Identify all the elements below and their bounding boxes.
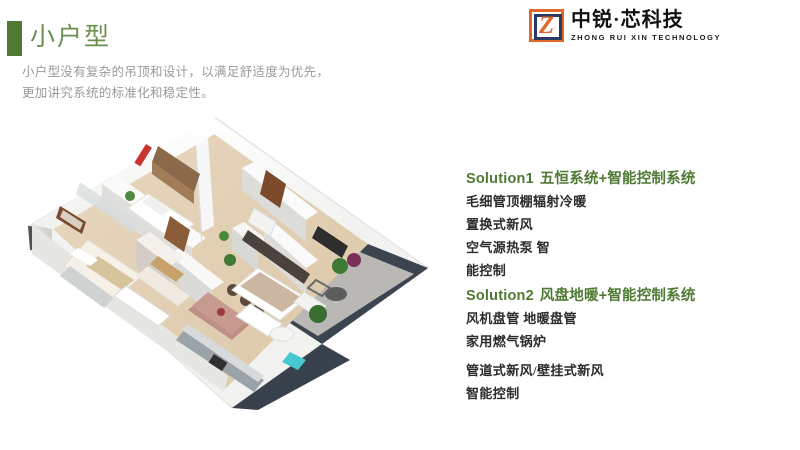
subtitle-line-2: 更加讲究系统的标准化和稳定性。 <box>22 83 442 104</box>
floorplan-plant-2 <box>219 231 229 241</box>
solution-1-item-4: 能控制 <box>466 259 786 282</box>
solution-2-heading: Solution2风盘地暖+智能控制系统 <box>466 285 786 307</box>
floorplan-dining-centerpiece <box>217 308 225 316</box>
solution-1-title: 五恒系统+智能控制系统 <box>540 171 696 187</box>
solution-2-title: 风盘地暖+智能控制系统 <box>540 288 696 304</box>
logo-z-icon: Z <box>529 9 564 42</box>
solution-1-label: Solution1 <box>466 171 534 187</box>
solution-1-heading: Solution1五恒系统+智能控制系统 <box>466 168 786 190</box>
company-logo: Z 中锐·芯科技 ZHONG RUI XIN TECHNOLOGY <box>529 9 721 43</box>
floorplan-plant-3 <box>224 254 236 266</box>
page-title: 小户型 <box>30 20 111 55</box>
logo-name-en: ZHONG RUI XIN TECHNOLOGY <box>571 32 721 43</box>
solution-block-1: Solution1五恒系统+智能控制系统 毛细管顶棚辐射冷暖 置换式新风 空气源… <box>466 168 786 282</box>
solution-2-item-1: 风机盘管 地暖盘管 <box>466 307 786 330</box>
logo-name-cn: 中锐·芯科技 <box>571 10 721 31</box>
logo-wordmark: 中锐·芯科技 ZHONG RUI XIN TECHNOLOGY <box>571 9 721 43</box>
solution-block-2: Solution2风盘地暖+智能控制系统 风机盘管 地暖盘管 家用燃气锅炉 管道… <box>466 285 786 405</box>
floorplan-plant-balcony-2 <box>347 253 361 267</box>
solution-2-item-3: 管道式新风/壁挂式新风 <box>466 359 786 382</box>
solutions-list: Solution1五恒系统+智能控制系统 毛细管顶棚辐射冷暖 置换式新风 空气源… <box>466 168 786 405</box>
floorplan-illustration <box>18 108 438 418</box>
floorplan-coffee-table <box>270 327 294 341</box>
subtitle-line-1: 小户型没有复杂的吊顶和设计，以满足舒适度为优先， <box>22 62 442 83</box>
floorplan-plant-balcony-3 <box>309 305 327 323</box>
solution-1-item-2: 置换式新风 <box>466 213 786 236</box>
floorplan-plant-balcony-1 <box>332 258 348 274</box>
title-accent-bar <box>7 21 22 56</box>
solution-1-item-1: 毛细管顶棚辐射冷暖 <box>466 190 786 213</box>
floorplan-plant-1 <box>125 191 135 201</box>
solution-2-label: Solution2 <box>466 288 534 304</box>
page-subtitle: 小户型没有复杂的吊顶和设计，以满足舒适度为优先， 更加讲究系统的标准化和稳定性。 <box>22 62 442 104</box>
solution-2-item-2: 家用燃气锅炉 <box>466 330 786 353</box>
logo-letter-z: Z <box>529 9 564 42</box>
slide-canvas: 小户型 小户型没有复杂的吊顶和设计，以满足舒适度为优先， 更加讲究系统的标准化和… <box>0 0 800 450</box>
solution-1-item-3: 空气源热泵 智 <box>466 236 786 259</box>
solution-2-item-4: 智能控制 <box>466 382 786 405</box>
